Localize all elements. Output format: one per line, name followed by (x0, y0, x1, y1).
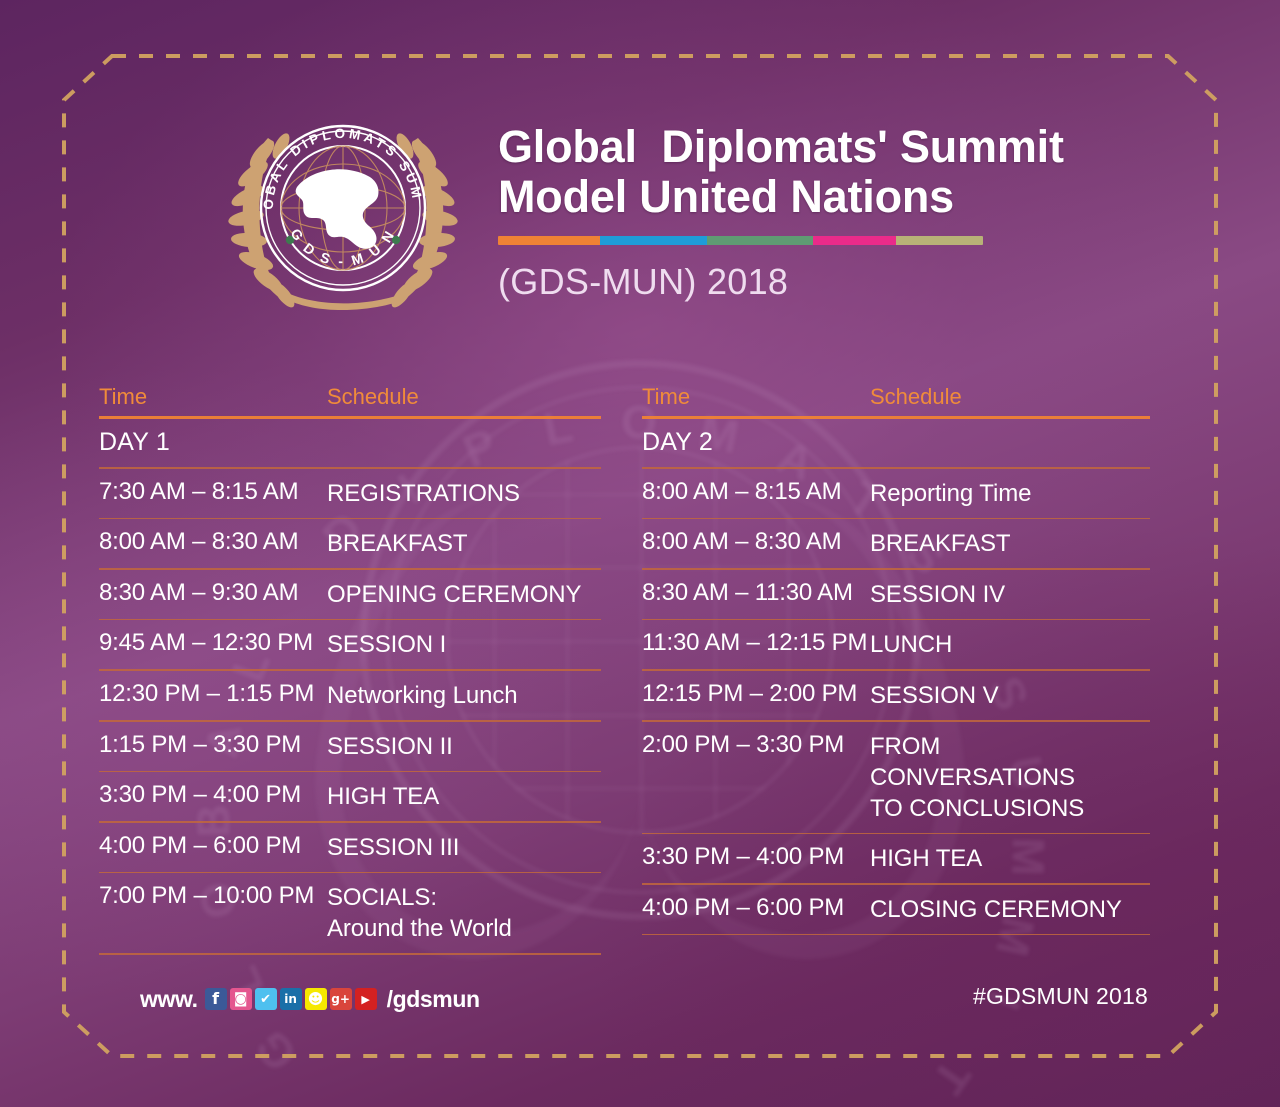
cell-schedule: SOCIALS: Around the World (327, 882, 601, 944)
cell-time: 8:00 AM – 8:15 AM (642, 478, 870, 506)
cell-time: 4:00 PM – 6:00 PM (642, 894, 870, 922)
twitter-icon[interactable]: ✔ (255, 988, 277, 1010)
cell-schedule: SESSION II (327, 731, 601, 762)
cell-time: 12:30 PM – 1:15 PM (99, 680, 327, 708)
facebook-icon[interactable]: f (205, 988, 227, 1010)
table-row: 7:00 PM – 10:00 PMSOCIALS: Around the Wo… (99, 873, 601, 953)
row-rule (642, 934, 1150, 936)
cell-time: 11:30 AM – 12:15 PM (642, 629, 870, 657)
table-row: 8:00 AM – 8:15 AMReporting Time (642, 469, 1150, 518)
cell-time: 7:00 PM – 10:00 PM (99, 882, 327, 910)
row-rule (99, 619, 601, 621)
header-rule (642, 416, 1150, 419)
table-header-row: Time Schedule (642, 384, 1150, 416)
cell-schedule: LUNCH (870, 629, 1150, 660)
row-rule (99, 518, 601, 520)
social-handle: /gdsmun (387, 986, 480, 1013)
gdsmun-seal-logo: GLOBAL DIPLOMATS SUMMIT G D S - M U N (218, 108, 468, 313)
youtube-icon[interactable]: ▶ (355, 988, 377, 1010)
cell-time: 8:00 AM – 8:30 AM (642, 528, 870, 556)
colorbar-segment-green (707, 236, 814, 245)
cell-schedule: HIGH TEA (870, 843, 1150, 874)
table-row: 8:30 AM – 11:30 AMSESSION IV (642, 570, 1150, 619)
table-row: 8:30 AM – 9:30 AMOPENING CEREMONY (99, 570, 601, 619)
footer-social-bar: www. f◙✔in☻g+▶ /gdsmun (140, 982, 480, 1016)
subtitle: (GDS-MUN) 2018 (498, 261, 1138, 303)
cell-schedule: SESSION III (327, 832, 601, 863)
row-rule (99, 720, 601, 722)
table-row: 11:30 AM – 12:15 PMLUNCH (642, 620, 1150, 669)
cell-time: 8:30 AM – 11:30 AM (642, 579, 870, 607)
table-row: 4:00 PM – 6:00 PMCLOSING CEREMONY (642, 885, 1150, 934)
cell-schedule: Networking Lunch (327, 680, 601, 711)
cell-time: 8:00 AM – 8:30 AM (99, 528, 327, 556)
cell-time: 7:30 AM – 8:15 AM (99, 478, 327, 506)
row-rule (642, 883, 1150, 885)
cell-schedule: CLOSING CEREMONY (870, 894, 1150, 925)
header-rule (99, 416, 601, 419)
colorbar-segment-khaki (896, 236, 983, 245)
title-line-1: Global Diplomats' Summit (498, 122, 1138, 172)
colorbar-segment-blue (600, 236, 707, 245)
poster-canvas: GLOBAL DIPLOMATS SUMMIT (0, 0, 1280, 1107)
row-rule (99, 568, 601, 570)
googleplus-icon[interactable]: g+ (330, 988, 352, 1010)
day-label: DAY 2 (642, 419, 1150, 467)
linkedin-icon[interactable]: in (280, 988, 302, 1010)
cell-time: 3:30 PM – 4:00 PM (99, 781, 327, 809)
column-header-schedule: Schedule (870, 384, 1150, 410)
row-rule (642, 669, 1150, 671)
cell-time: 1:15 PM – 3:30 PM (99, 731, 327, 759)
schedule-table-day1: Time Schedule DAY 1 7:30 AM – 8:15 AMREG… (99, 384, 601, 955)
row-rule (99, 669, 601, 671)
column-header-time: Time (99, 384, 327, 410)
cell-schedule: Reporting Time (870, 478, 1150, 509)
brand-color-bar (498, 236, 983, 245)
column-header-time: Time (642, 384, 870, 410)
seal-svg: GLOBAL DIPLOMATS SUMMIT G D S - M U N (218, 108, 468, 313)
cell-schedule: FROM CONVERSATIONS TO CONCLUSIONS (870, 731, 1150, 824)
row-rule (642, 518, 1150, 520)
row-rule (642, 619, 1150, 621)
row-rule (99, 872, 601, 874)
table-row: 4:00 PM – 6:00 PMSESSION III (99, 823, 601, 872)
snapchat-icon[interactable]: ☻ (305, 988, 327, 1010)
cell-time: 2:00 PM – 3:30 PM (642, 731, 870, 759)
table-header-row: Time Schedule (99, 384, 601, 416)
row-rule (99, 953, 601, 955)
row-rule (642, 568, 1150, 570)
instagram-icon[interactable]: ◙ (230, 988, 252, 1010)
table-row: 7:30 AM – 8:15 AMREGISTRATIONS (99, 469, 601, 518)
cell-time: 3:30 PM – 4:00 PM (642, 843, 870, 871)
cell-schedule: REGISTRATIONS (327, 478, 601, 509)
row-rule (99, 467, 601, 469)
cell-time: 9:45 AM – 12:30 PM (99, 629, 327, 657)
table-row: 3:30 PM – 4:00 PMHIGH TEA (99, 772, 601, 821)
table-row: 8:00 AM – 8:30 AMBREAKFAST (99, 519, 601, 568)
table-row: 8:00 AM – 8:30 AMBREAKFAST (642, 519, 1150, 568)
cell-schedule: BREAKFAST (327, 528, 601, 559)
table-row: 3:30 PM – 4:00 PMHIGH TEA (642, 834, 1150, 883)
social-icons: f◙✔in☻g+▶ (205, 988, 380, 1010)
colorbar-segment-orange (498, 236, 600, 245)
title-block: Global Diplomats' Summit Model United Na… (498, 122, 1138, 303)
table-row: 12:30 PM – 1:15 PMNetworking Lunch (99, 671, 601, 720)
row-rule (642, 720, 1150, 722)
cell-time: 8:30 AM – 9:30 AM (99, 579, 327, 607)
schedule-table-day2: Time Schedule DAY 2 8:00 AM – 8:15 AMRep… (642, 384, 1150, 935)
row-rule (642, 467, 1150, 469)
cell-time: 12:15 PM – 2:00 PM (642, 680, 870, 708)
colorbar-segment-pink (813, 236, 895, 245)
poster-header: GLOBAL DIPLOMATS SUMMIT G D S - M U N Gl… (0, 0, 1280, 330)
title-line-2: Model United Nations (498, 172, 1138, 222)
www-label: www. (140, 986, 198, 1013)
cell-schedule: SESSION I (327, 629, 601, 660)
row-rule (99, 771, 601, 773)
cell-schedule: SESSION IV (870, 579, 1150, 610)
table-body: 8:00 AM – 8:15 AMReporting Time8:00 AM –… (642, 469, 1150, 936)
row-rule (642, 833, 1150, 835)
cell-schedule: BREAKFAST (870, 528, 1150, 559)
day-label: DAY 1 (99, 419, 601, 467)
cell-schedule: HIGH TEA (327, 781, 601, 812)
cell-time: 4:00 PM – 6:00 PM (99, 832, 327, 860)
table-row: 2:00 PM – 3:30 PMFROM CONVERSATIONS TO C… (642, 722, 1150, 833)
cell-schedule: OPENING CEREMONY (327, 579, 601, 610)
table-body: 7:30 AM – 8:15 AMREGISTRATIONS8:00 AM – … (99, 469, 601, 955)
cell-schedule: SESSION V (870, 680, 1150, 711)
event-hashtag: #GDSMUN 2018 (973, 983, 1148, 1010)
table-row: 9:45 AM – 12:30 PMSESSION I (99, 620, 601, 669)
row-rule (99, 821, 601, 823)
table-row: 1:15 PM – 3:30 PMSESSION II (99, 722, 601, 771)
table-row: 12:15 PM – 2:00 PMSESSION V (642, 671, 1150, 720)
column-header-schedule: Schedule (327, 384, 601, 410)
